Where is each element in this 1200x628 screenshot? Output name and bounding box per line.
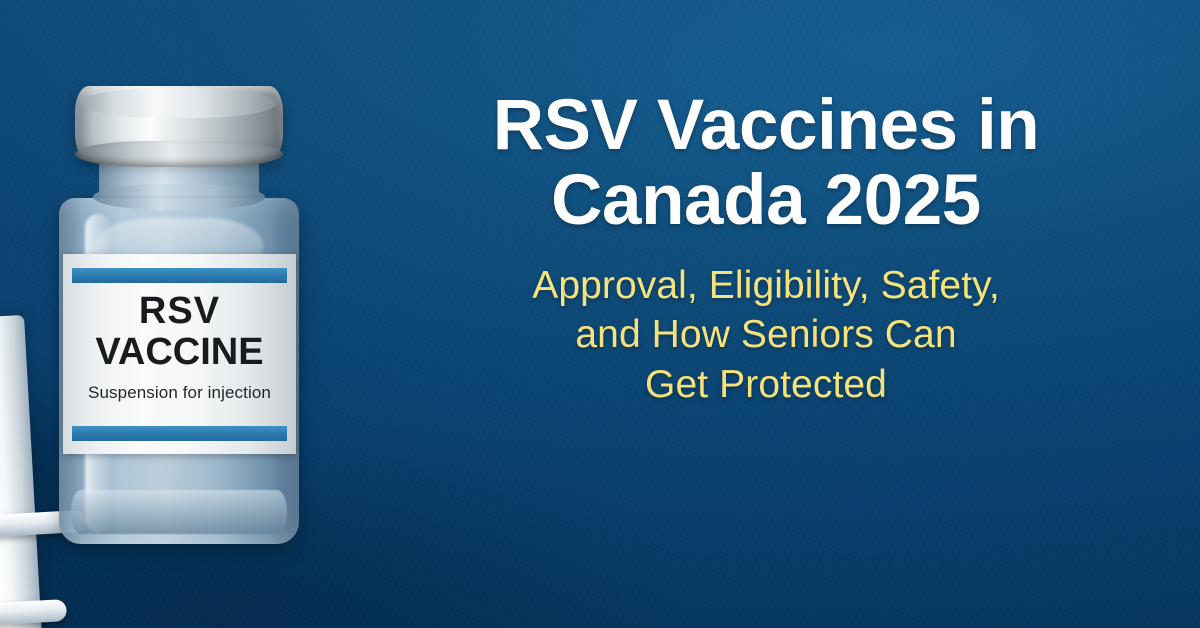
subtitle-line-1: Approval, Eligibility, Safety,	[356, 261, 1176, 311]
vaccine-vial-image: RSV VACCINE Suspension for injection	[55, 86, 303, 548]
subtitle-line-3: Get Protected	[356, 360, 1176, 410]
subtitle-line-2: and How Seniors Can	[356, 310, 1176, 360]
title-line-2: Canada 2025	[356, 163, 1176, 238]
rsv-vaccine-hero-banner: RSV VACCINE Suspension for injection RSV…	[0, 0, 1200, 628]
vial-label-title-line1: RSV	[63, 292, 296, 330]
vial-neck-ring	[93, 184, 265, 210]
vial-label-stripe-top	[72, 268, 287, 283]
page-subtitle: Approval, Eligibility, Safety, and How S…	[356, 261, 1176, 411]
title-line-1: RSV Vaccines in	[356, 88, 1176, 163]
vial-glass-base	[71, 490, 287, 534]
vial-label-subtext: Suspension for injection	[63, 383, 296, 403]
vial-label-title-line2: VACCINE	[63, 333, 296, 371]
vial-label: RSV VACCINE Suspension for injection	[63, 254, 296, 454]
vial-cap-top	[81, 88, 277, 118]
page-title: RSV Vaccines in Canada 2025	[356, 88, 1176, 239]
headline-block: RSV Vaccines in Canada 2025 Approval, El…	[356, 88, 1176, 410]
vial-cap-rim	[75, 141, 283, 167]
vial-label-stripe-bottom	[72, 426, 287, 441]
